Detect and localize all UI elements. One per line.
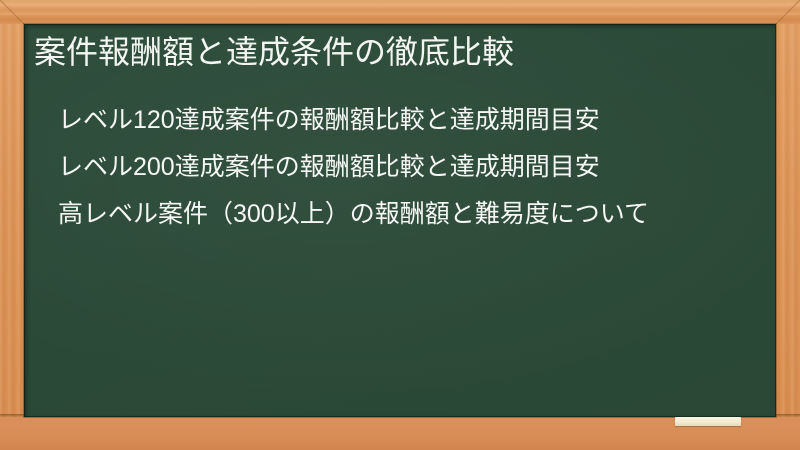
chalkboard-surface: 案件報酬額と達成条件の徹底比較 レベル120達成案件の報酬額比較と達成期間目安 … <box>24 24 776 417</box>
list-item: レベル200達成案件の報酬額比較と達成期間目安 <box>58 149 758 185</box>
chalk-stick <box>675 417 741 426</box>
topic-list: レベル120達成案件の報酬額比較と達成期間目安 レベル200達成案件の報酬額比較… <box>58 102 758 243</box>
list-item: レベル120達成案件の報酬額比較と達成期間目安 <box>58 102 758 138</box>
list-item: 高レベル案件（300以上）の報酬額と難易度について <box>58 196 758 232</box>
chalkboard-slide: 案件報酬額と達成条件の徹底比較 レベル120達成案件の報酬額比較と達成期間目安 … <box>0 0 800 450</box>
slide-title: 案件報酬額と達成条件の徹底比較 <box>34 32 754 73</box>
frame-top-rail <box>0 0 800 24</box>
